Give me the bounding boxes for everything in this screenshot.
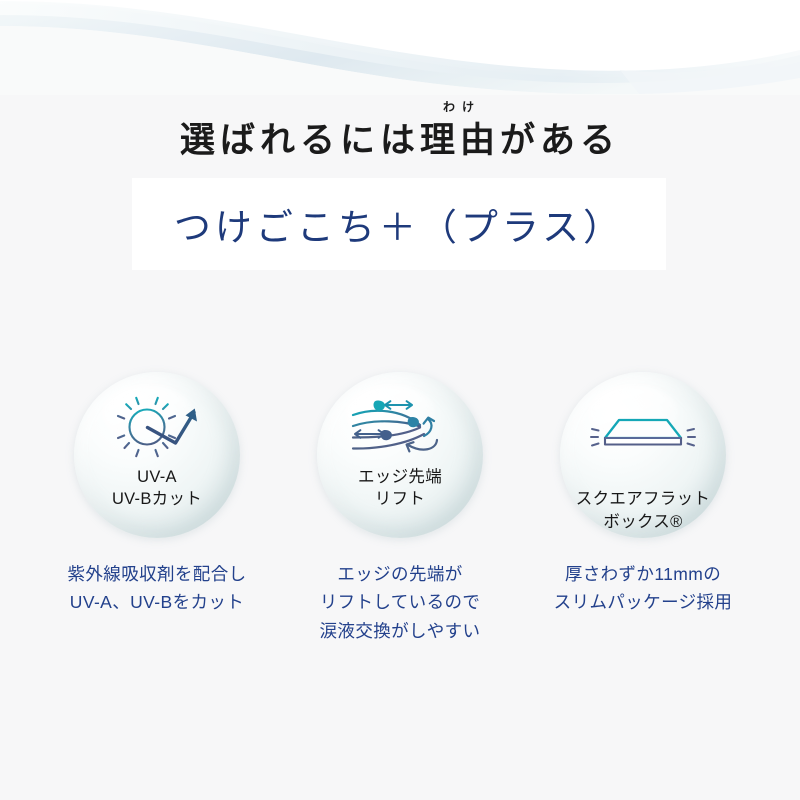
lens-edge-lift-tear-flow-icon bbox=[350, 394, 450, 460]
feature-caption: 厚さわずか11mmの スリムパッケージ採用 bbox=[523, 560, 763, 617]
feature-bubble: スクエアフラット ボックス® bbox=[560, 372, 726, 538]
feature-label: スクエアフラット ボックス® bbox=[576, 466, 710, 533]
feature-bubble: エッジ先端 リフト bbox=[317, 372, 483, 538]
subtitle-text: つけごこち＋（プラス） bbox=[174, 197, 624, 251]
headline-ruby-group: わけ理由 bbox=[420, 119, 500, 163]
feature-item-uv-cut: UV-A UV-Bカット 紫外線吸収剤を配合し UV-A、UV-Bをカット bbox=[73, 372, 241, 645]
subtitle-panel: つけごこち＋（プラス） bbox=[132, 178, 666, 270]
uv-sun-ray-arrow-icon bbox=[111, 394, 203, 460]
feature-list: UV-A UV-Bカット 紫外線吸収剤を配合し UV-A、UV-Bをカット bbox=[0, 372, 800, 645]
feature-label-text: スクエアフラット ボックス® bbox=[576, 490, 710, 530]
headline-ruby-base: 理由 bbox=[420, 121, 500, 160]
feature-caption: 紫外線吸収剤を配合し UV-A、UV-Bをカット bbox=[37, 560, 277, 617]
decorative-wave-ribbon bbox=[0, 0, 800, 95]
headline-after-ruby: がある bbox=[500, 121, 620, 160]
feature-bubble: UV-A UV-Bカット bbox=[74, 372, 240, 538]
feature-item-flat-box: スクエアフラット ボックス® 厚さわずか11mmの スリムパッケージ採用 bbox=[559, 372, 727, 645]
page-headline: 選ばれるにはわけ理由がある bbox=[0, 119, 800, 163]
square-flat-box-package-icon bbox=[589, 394, 697, 460]
feature-item-edge-lift: エッジ先端 リフト エッジの先端が リフトしているので 涙液交換がしやすい bbox=[316, 372, 484, 645]
feature-caption: エッジの先端が リフトしているので 涙液交換がしやすい bbox=[280, 560, 520, 645]
feature-label: UV-A UV-Bカット bbox=[112, 466, 202, 511]
headline-before-ruby: 選ばれるには bbox=[180, 121, 420, 160]
headline-ruby-text: わけ bbox=[420, 100, 500, 115]
feature-label: エッジ先端 リフト bbox=[358, 466, 442, 511]
